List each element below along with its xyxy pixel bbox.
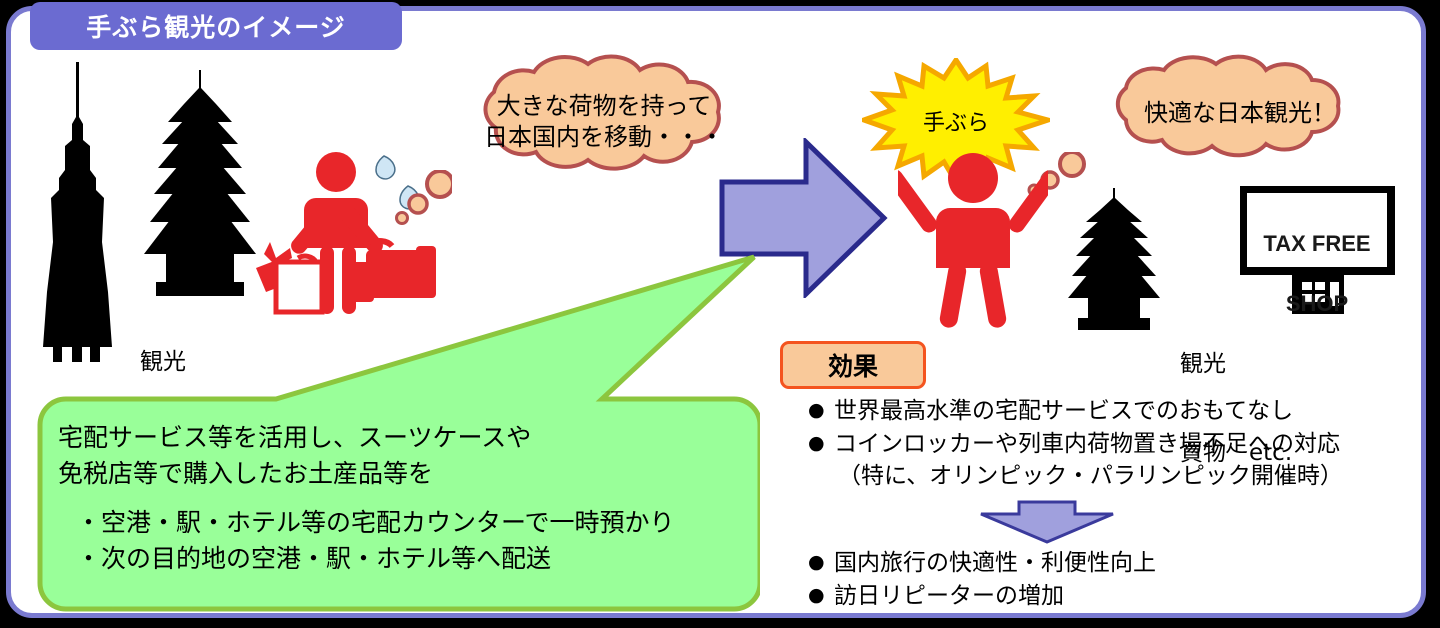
effect-bullets-top: ● 世界最高水準の宅配サービスでのおもてなし ● コインロッカーや列車内荷物置き…: [808, 396, 1408, 492]
service-line3: ・空港・駅・ホテル等の宅配カウンターで一時預かり: [58, 505, 718, 541]
bullet-text: 訪日リピーターの増加: [834, 581, 1064, 612]
list-item: ● コインロッカーや列車内荷物置き場不足への対応: [808, 429, 1408, 460]
effect-label: 効果: [828, 347, 878, 383]
bullet-dot-icon: ●: [808, 396, 834, 425]
service-line2: 免税店等で購入したお土産品等を: [58, 456, 718, 492]
effect-note: （特に、オリンピック・パラリンピック開催時）: [808, 461, 1408, 492]
bullet-text: コインロッカーや列車内荷物置き場不足への対応: [834, 429, 1340, 460]
pagoda-icon-right: [1062, 188, 1166, 341]
right-bubble-line1: 快適な日本観光！: [1144, 98, 1336, 129]
infographic-canvas: 手ぶら観光のイメージ: [0, 0, 1440, 628]
effect-bullets-bottom: ● 国内旅行の快適性・利便性向上 ● 訪日リピーターの増加: [808, 548, 1408, 613]
page-title: 手ぶら観光のイメージ: [86, 8, 346, 44]
tax-free-line1: TAX FREE: [1240, 232, 1394, 255]
hands-free-traveler-icon: [898, 148, 1048, 333]
right-thought-bubble: 快適な日本観光！: [1066, 58, 1414, 168]
list-item: ● 訪日リピーターの増加: [808, 581, 1408, 612]
bullet-dot-icon: ●: [808, 581, 834, 610]
service-callout-text: 宅配サービス等を活用し、スーツケースや 免税店等で購入したお土産品等を ・空港・…: [58, 420, 718, 576]
bullet-dot-icon: ●: [808, 548, 834, 577]
title-banner: 手ぶら観光のイメージ: [30, 2, 402, 50]
bullet-dot-icon: ●: [808, 429, 834, 458]
bullet-text: 世界最高水準の宅配サービスでのおもてなし: [834, 396, 1293, 427]
service-line1: 宅配サービス等を活用し、スーツケースや: [58, 420, 718, 456]
left-bubble-trail: [392, 170, 452, 230]
right-activity-line1: 観光: [1180, 350, 1292, 380]
effect-label-box: 効果: [780, 341, 926, 389]
left-bubble-line1: 大きな荷物を持って: [497, 91, 712, 122]
list-item: ● 国内旅行の快適性・利便性向上: [808, 548, 1408, 579]
list-item: ● 世界最高水準の宅配サービスでのおもてなし: [808, 396, 1408, 427]
left-bubble-line2: 日本国内を移動・・・: [484, 122, 724, 153]
right-bubble-text: 快適な日本観光！: [1066, 58, 1414, 168]
service-line4: ・次の目的地の空港・駅・ホテル等へ配送: [58, 541, 718, 577]
effect-down-arrow-icon: [977, 500, 1117, 544]
bullet-text: 国内旅行の快適性・利便性向上: [834, 548, 1156, 579]
